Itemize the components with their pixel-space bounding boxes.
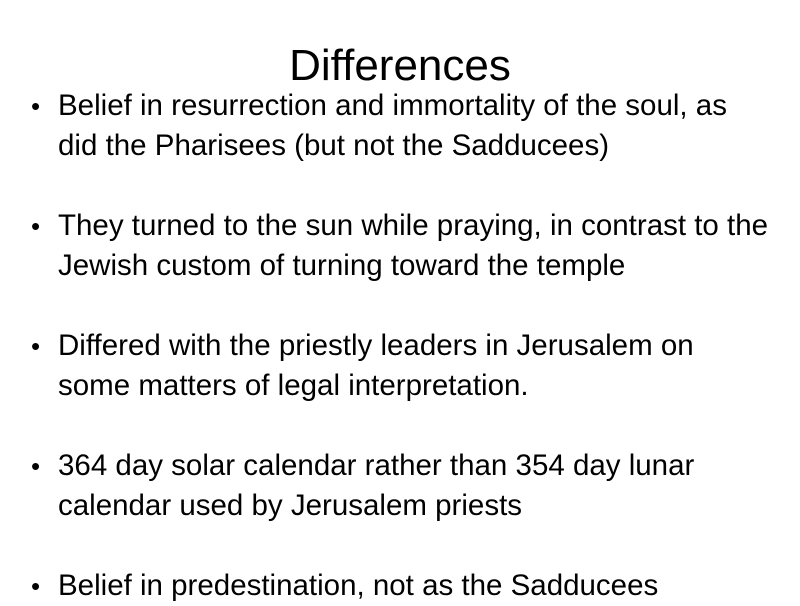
list-item-text: Belief in resurrection and immortality o… — [58, 89, 727, 162]
list-item: •They turned to the sun while praying, i… — [31, 206, 773, 286]
bullet-icon: • — [31, 446, 58, 486]
bullet-icon: • — [31, 86, 58, 126]
list-item-text: They turned to the sun while praying, in… — [58, 209, 768, 282]
bullet-icon: • — [31, 206, 58, 246]
bullet-icon: • — [31, 566, 58, 606]
bullet-icon: • — [31, 326, 58, 366]
list-item: •Belief in predestination, not as the Sa… — [31, 566, 773, 606]
list-item: •Differed with the priestly leaders in J… — [31, 326, 773, 406]
slide-body: •Belief in resurrection and immortality … — [31, 86, 773, 606]
slide: Differences •Belief in resurrection and … — [0, 0, 800, 600]
bullet-list: •Belief in resurrection and immortality … — [31, 86, 773, 606]
page-title: Differences — [0, 42, 800, 90]
list-item: •Belief in resurrection and immortality … — [31, 86, 773, 166]
list-item-text: Differed with the priestly leaders in Je… — [58, 329, 694, 402]
list-item: •364 day solar calendar rather than 354 … — [31, 446, 773, 526]
list-item-text: Belief in predestination, not as the Sad… — [58, 569, 658, 602]
list-item-text: 364 day solar calendar rather than 354 d… — [58, 449, 694, 522]
